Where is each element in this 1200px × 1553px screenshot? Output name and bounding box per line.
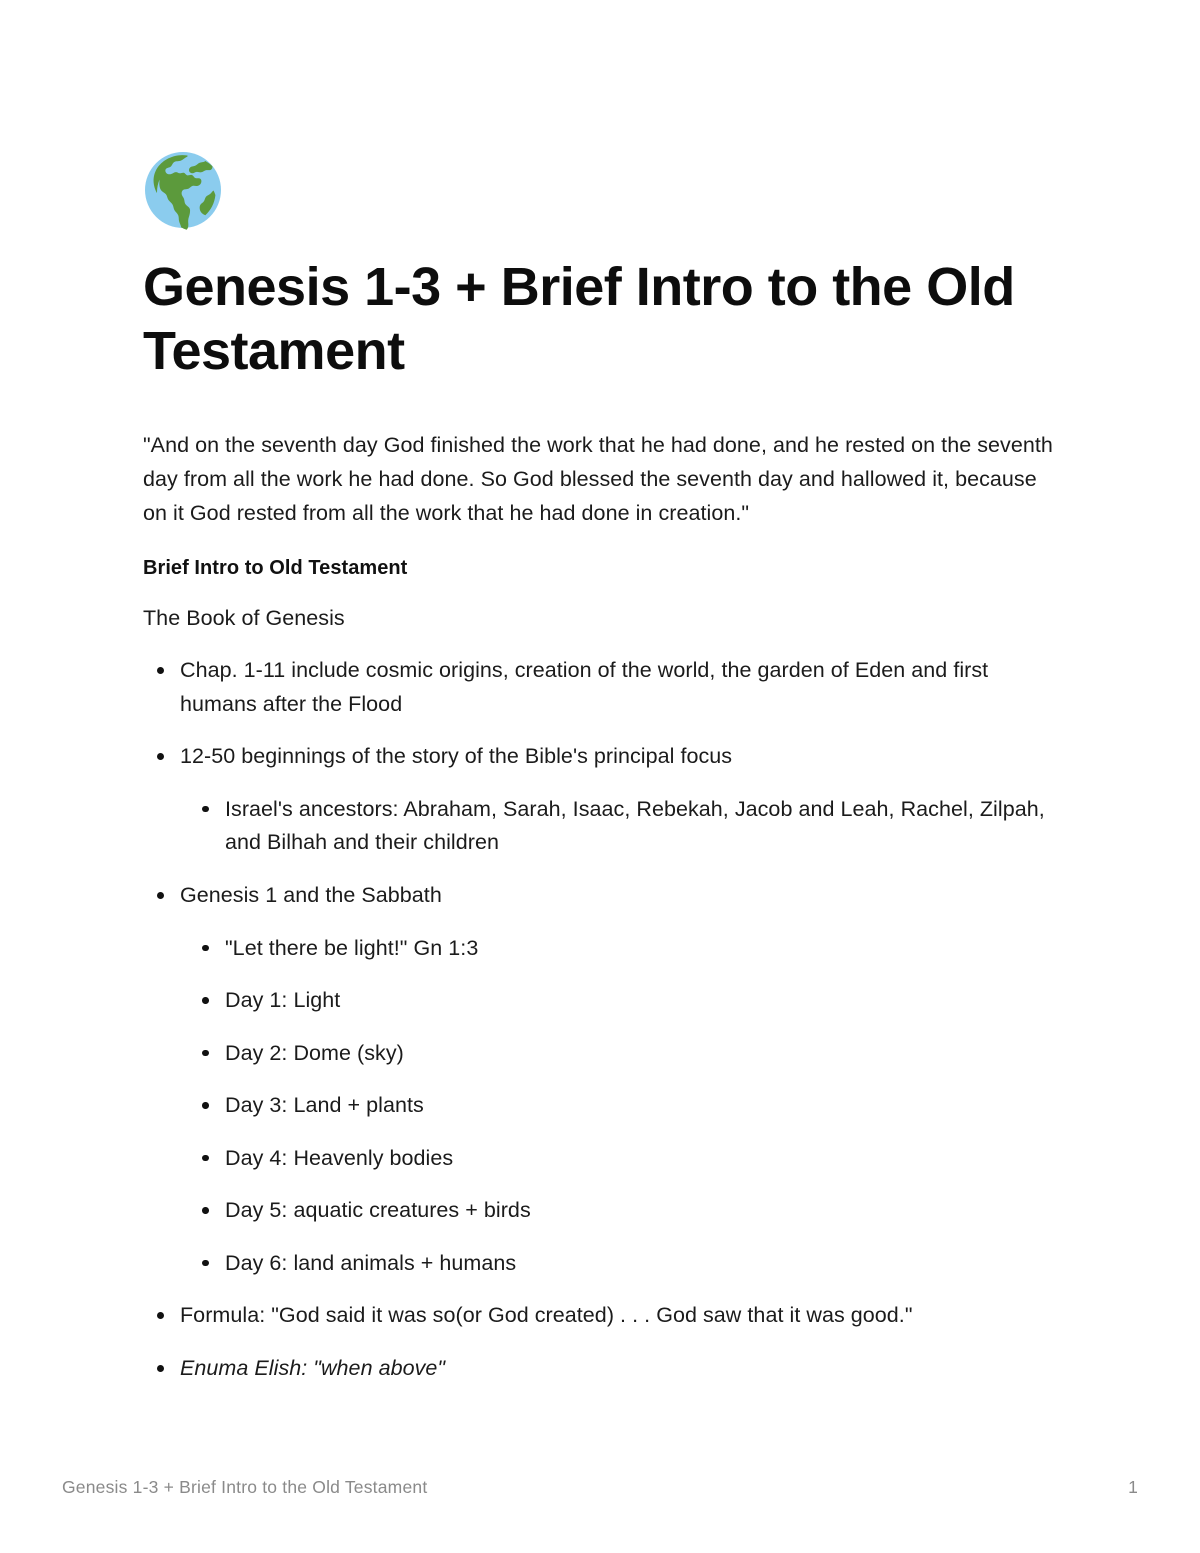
page-footer: Genesis 1-3 + Brief Intro to the Old Tes… — [62, 1477, 1138, 1498]
outline-list: Chap. 1-11 include cosmic origins, creat… — [143, 654, 1059, 1385]
section-subheading: Brief Intro to Old Testament — [143, 557, 1059, 580]
list-item-text: Enuma Elish: "when above" — [180, 1356, 445, 1380]
footer-page-number: 1 — [1128, 1477, 1138, 1498]
document-content: Genesis 1-3 + Brief Intro to the Old Tes… — [143, 150, 1059, 1404]
list-item-text: Israel's ancestors: Abraham, Sarah, Isaa… — [225, 797, 1045, 855]
list-item-text: Day 4: Heavenly bodies — [225, 1146, 453, 1170]
list-item: Genesis 1 and the Sabbath "Let there be … — [143, 879, 1059, 1280]
page-title: Genesis 1-3 + Brief Intro to the Old Tes… — [143, 256, 1043, 383]
list-item: Day 2: Dome (sky) — [180, 1037, 1059, 1071]
list-item-text: Genesis 1 and the Sabbath — [180, 883, 442, 907]
list-item-text: Formula: "God said it was so(or God crea… — [180, 1303, 913, 1327]
list-item-text: Chap. 1-11 include cosmic origins, creat… — [180, 658, 988, 716]
earth-globe-europe-africa-icon — [143, 150, 223, 230]
nested-list: Israel's ancestors: Abraham, Sarah, Isaa… — [180, 793, 1059, 860]
footer-document-title: Genesis 1-3 + Brief Intro to the Old Tes… — [62, 1477, 427, 1498]
list-item-text: "Let there be light!" Gn 1:3 — [225, 936, 478, 960]
list-item-text: Day 2: Dome (sky) — [225, 1041, 404, 1065]
document-page: Genesis 1-3 + Brief Intro to the Old Tes… — [0, 0, 1200, 1553]
list-item: Day 5: aquatic creatures + birds — [180, 1194, 1059, 1228]
list-item: Enuma Elish: "when above" — [143, 1352, 1059, 1386]
list-item: Formula: "God said it was so(or God crea… — [143, 1299, 1059, 1333]
list-item: Day 1: Light — [180, 984, 1059, 1018]
list-item-text: Day 3: Land + plants — [225, 1093, 424, 1117]
intro-line: The Book of Genesis — [143, 602, 1059, 636]
list-item: "Let there be light!" Gn 1:3 — [180, 932, 1059, 966]
list-item-text: 12-50 beginnings of the story of the Bib… — [180, 744, 732, 768]
nested-list: "Let there be light!" Gn 1:3 Day 1: Ligh… — [180, 932, 1059, 1281]
list-item-text: Day 5: aquatic creatures + birds — [225, 1198, 531, 1222]
list-item: Chap. 1-11 include cosmic origins, creat… — [143, 654, 1059, 721]
opening-quote-paragraph: "And on the seventh day God finished the… — [143, 429, 1059, 531]
list-item: Day 6: land animals + humans — [180, 1247, 1059, 1281]
list-item-text: Day 6: land animals + humans — [225, 1251, 516, 1275]
list-item: Israel's ancestors: Abraham, Sarah, Isaa… — [180, 793, 1059, 860]
list-item-text: Day 1: Light — [225, 988, 340, 1012]
list-item: Day 3: Land + plants — [180, 1089, 1059, 1123]
list-item: Day 4: Heavenly bodies — [180, 1142, 1059, 1176]
list-item: 12-50 beginnings of the story of the Bib… — [143, 740, 1059, 860]
